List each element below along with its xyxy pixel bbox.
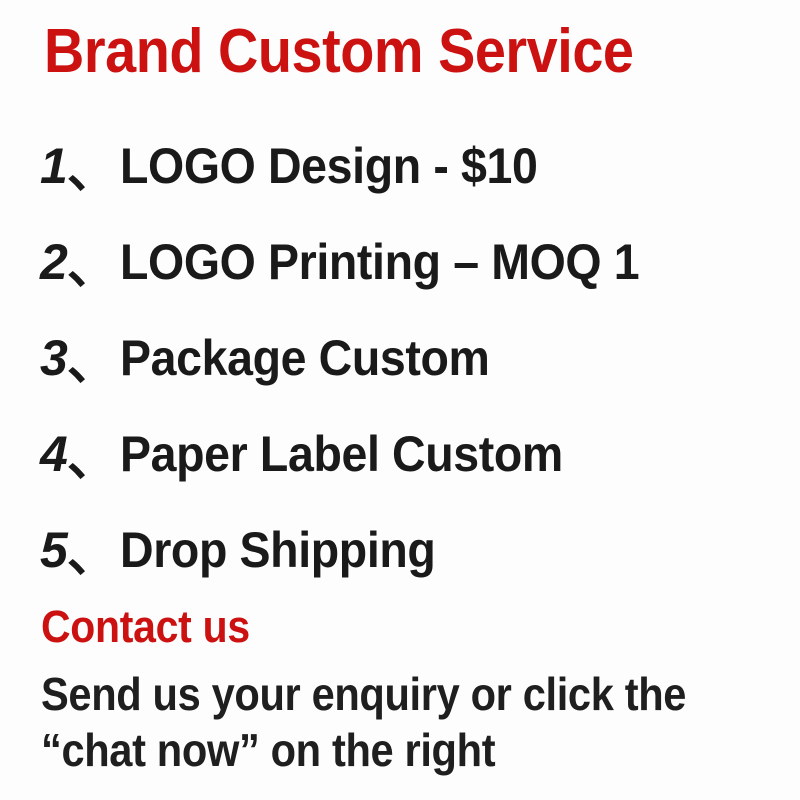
list-item-number: 5、 xyxy=(40,502,117,598)
list-item: 2、 LOGO Printing – MOQ 1 xyxy=(0,214,800,310)
contact-instructions-line-2: “chat now” on the right xyxy=(41,722,686,778)
list-item-label: Package Custom xyxy=(120,310,490,406)
page-title: Brand Custom Service xyxy=(44,20,634,84)
brand-custom-service-poster: Brand Custom Service 1、 LOGO Design - $1… xyxy=(0,0,800,800)
service-list: 1、 LOGO Design - $10 2、 LOGO Printing – … xyxy=(0,118,800,598)
list-item-number: 2、 xyxy=(40,214,117,310)
list-item-label: Paper Label Custom xyxy=(120,406,563,502)
list-item-label: LOGO Design - $10 xyxy=(120,118,537,214)
list-item-number: 3、 xyxy=(40,310,117,406)
list-item-number: 4、 xyxy=(40,406,117,502)
list-item-number: 1、 xyxy=(40,118,117,214)
contact-us-heading: Contact us xyxy=(41,604,250,650)
list-item: 3、 Package Custom xyxy=(0,310,800,406)
contact-instructions: Send us your enquiry or click the “chat … xyxy=(41,666,686,778)
list-item-label: LOGO Printing – MOQ 1 xyxy=(120,214,639,310)
contact-instructions-line-1: Send us your enquiry or click the xyxy=(41,666,686,722)
list-item: 1、 LOGO Design - $10 xyxy=(0,118,800,214)
list-item-label: Drop Shipping xyxy=(120,502,435,598)
list-item: 5、 Drop Shipping xyxy=(0,502,800,598)
list-item: 4、 Paper Label Custom xyxy=(0,406,800,502)
